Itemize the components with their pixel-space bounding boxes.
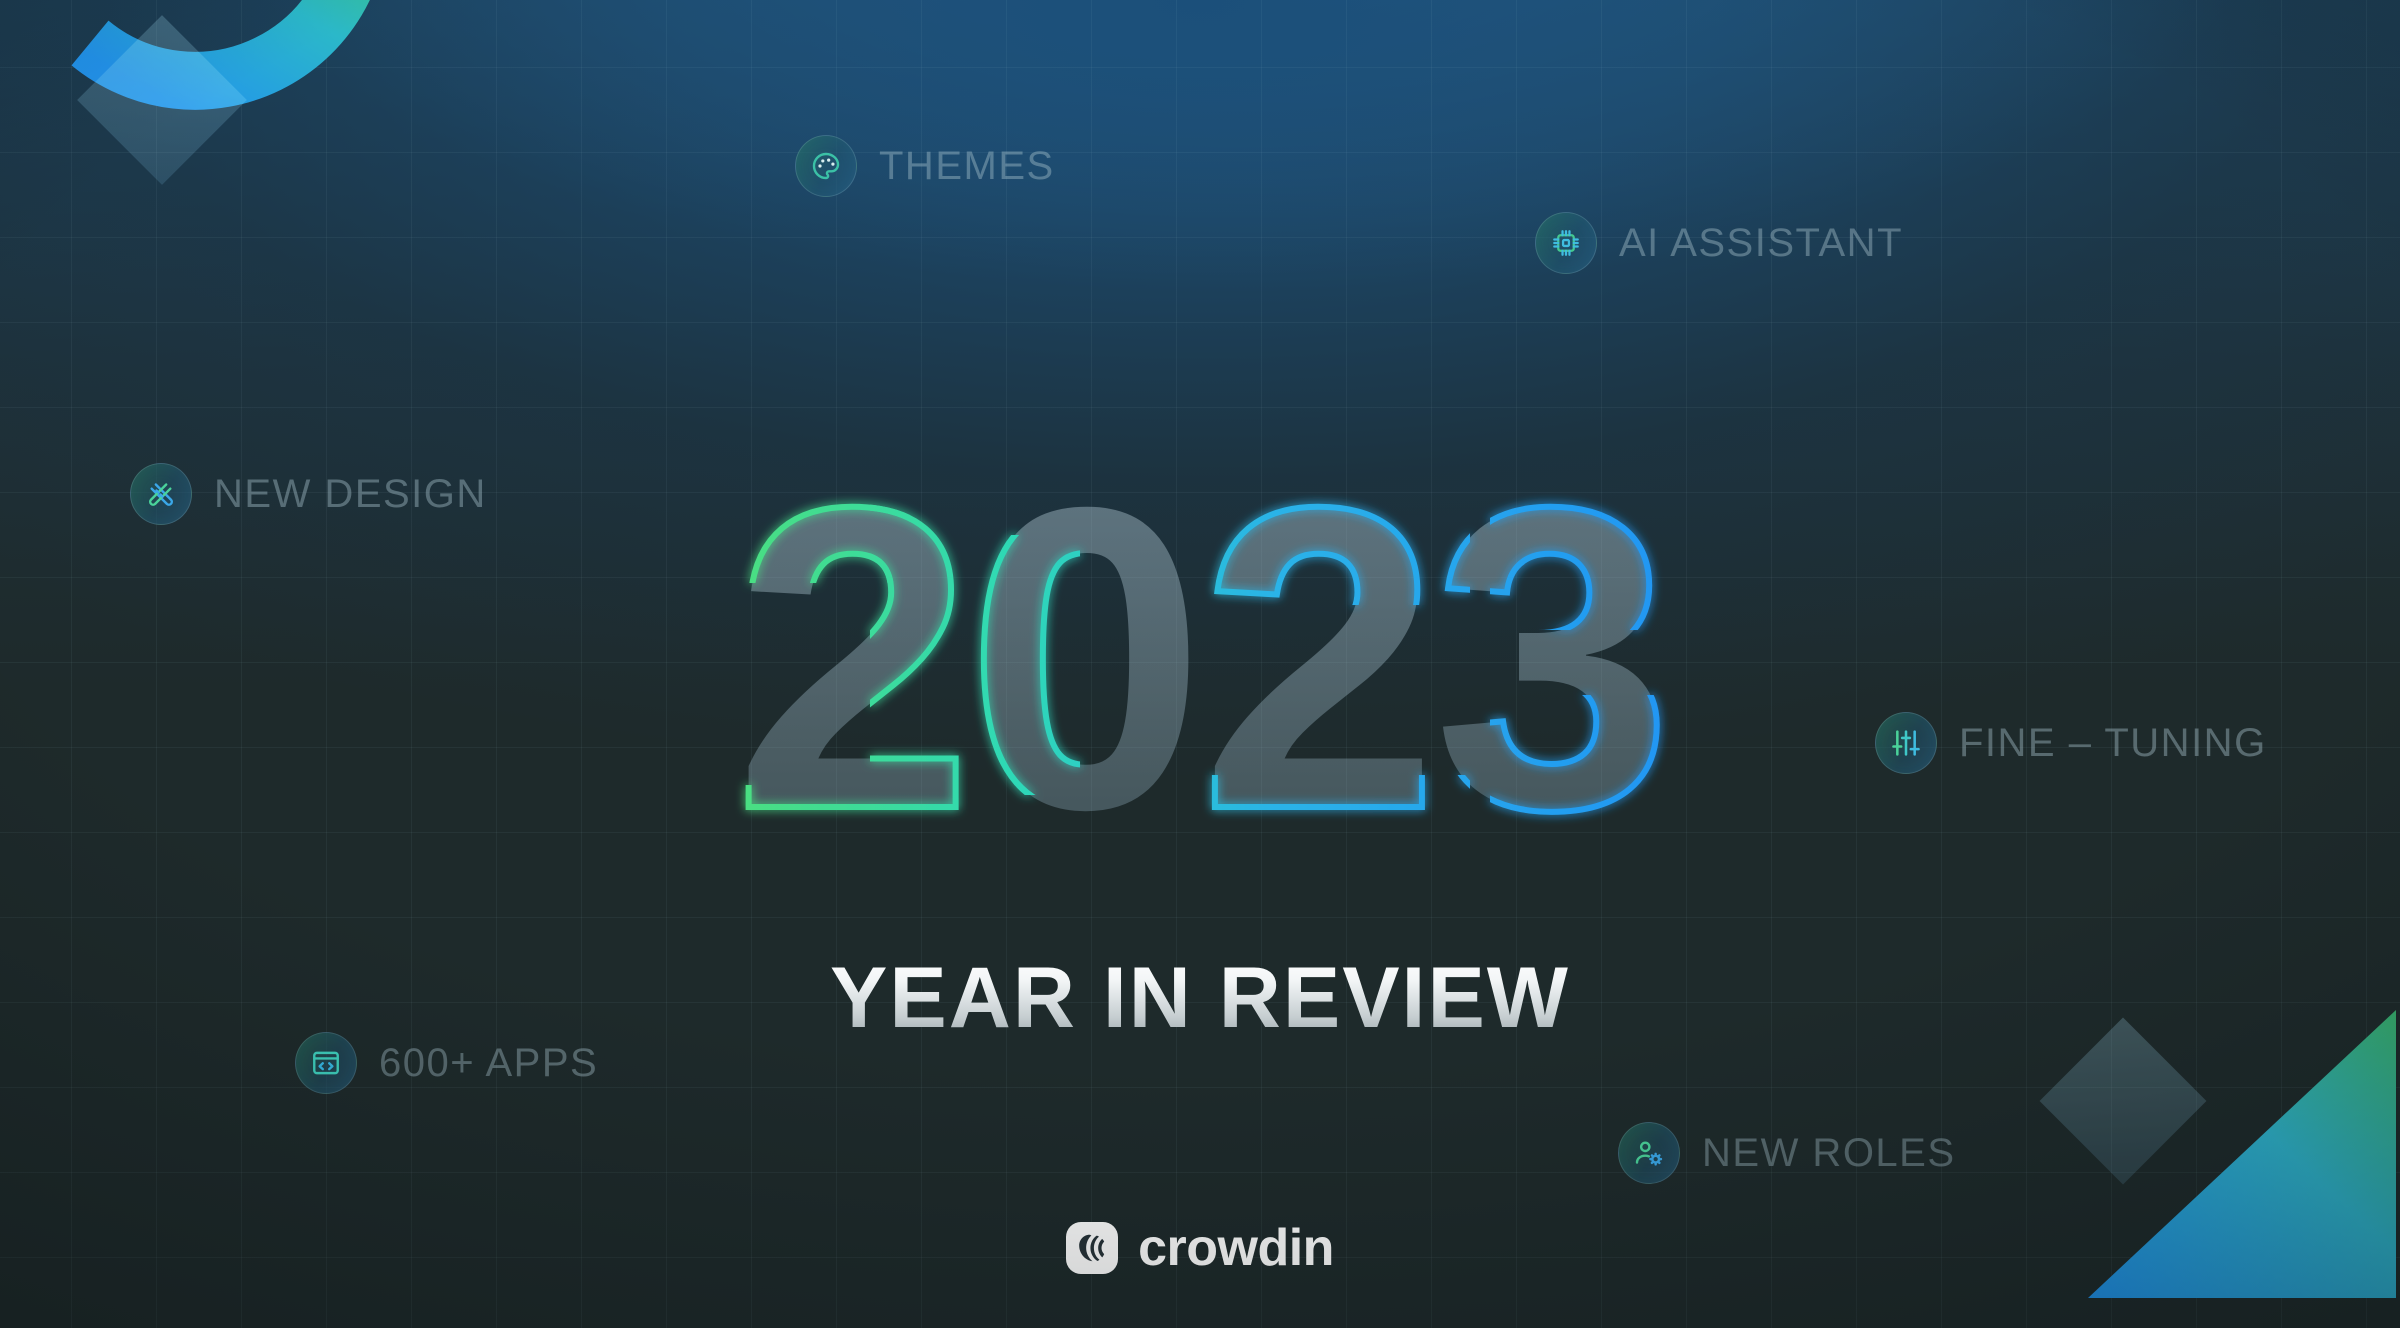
code-window-icon xyxy=(295,1032,357,1094)
svg-text:2023: 2023 xyxy=(734,455,1667,855)
year-2023-graphic: 2023 2023 2023 2023 2023 xyxy=(610,455,1790,855)
sliders-icon xyxy=(1875,712,1937,774)
feature-label: FINE – TUNING xyxy=(1959,721,2267,766)
feature-badge-ai-assistant[interactable]: AI ASSISTANT xyxy=(1535,212,1903,274)
page-subtitle: YEAR IN REVIEW xyxy=(0,955,2400,1041)
feature-label: AI ASSISTANT xyxy=(1619,221,1903,266)
feature-badge-new-roles[interactable]: NEW ROLES xyxy=(1618,1122,1956,1184)
year-in-review-banner: 2023 2023 2023 2023 2023 YEAR IN REVIEW xyxy=(0,0,2400,1328)
feature-badge-new-design[interactable]: NEW DESIGN xyxy=(130,463,487,525)
feature-label: NEW ROLES xyxy=(1702,1131,1956,1176)
pencil-ruler-icon xyxy=(130,463,192,525)
feature-badge-fine-tuning[interactable]: FINE – TUNING xyxy=(1875,712,2267,774)
feature-label: NEW DESIGN xyxy=(214,472,487,517)
crowdin-logo-icon xyxy=(1066,1222,1118,1274)
feature-badge-themes[interactable]: THEMES xyxy=(795,135,1055,197)
user-gear-icon xyxy=(1618,1122,1680,1184)
feature-label: THEMES xyxy=(879,144,1055,189)
feature-badge-apps[interactable]: 600+ APPS xyxy=(295,1032,598,1094)
palette-icon xyxy=(795,135,857,197)
cpu-chip-icon xyxy=(1535,212,1597,274)
brand-name: crowdin xyxy=(1138,1222,1334,1274)
feature-label: 600+ APPS xyxy=(379,1041,598,1086)
brand-lockup[interactable]: crowdin xyxy=(0,1222,2400,1274)
